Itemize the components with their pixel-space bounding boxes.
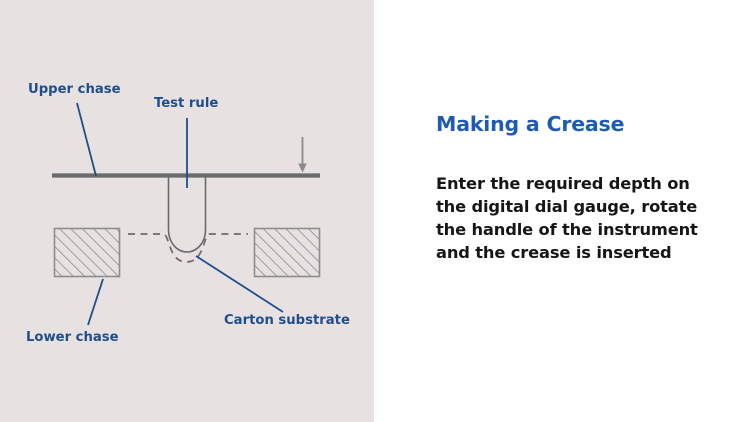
content-heading: Making a Crease xyxy=(436,112,716,137)
leader-line-upper-chase xyxy=(77,103,96,176)
crease-diagram: Upper chase Test rule Lower chase Carton… xyxy=(0,0,374,422)
carton-substrate-dashed-line xyxy=(128,234,248,262)
leader-line-lower-chase xyxy=(88,279,103,325)
diagram-label-upper-chase: Upper chase xyxy=(28,82,121,97)
downward-force-arrow-icon xyxy=(298,137,307,173)
diagram-panel: Upper chase Test rule Lower chase Carton… xyxy=(0,0,374,422)
lower-chase-right-block xyxy=(255,229,320,277)
leader-lines xyxy=(77,103,283,325)
lower-chase-left-block xyxy=(55,229,120,277)
content-body: Enter the required depth on the digital … xyxy=(436,172,704,265)
diagram-label-lower-chase: Lower chase xyxy=(26,330,119,345)
slide-root: Upper chase Test rule Lower chase Carton… xyxy=(0,0,750,422)
text-panel: Making a Crease Enter the required depth… xyxy=(374,0,750,422)
diagram-label-test-rule: Test rule xyxy=(154,96,218,111)
diagram-label-carton-substrate: Carton substrate xyxy=(224,313,350,328)
